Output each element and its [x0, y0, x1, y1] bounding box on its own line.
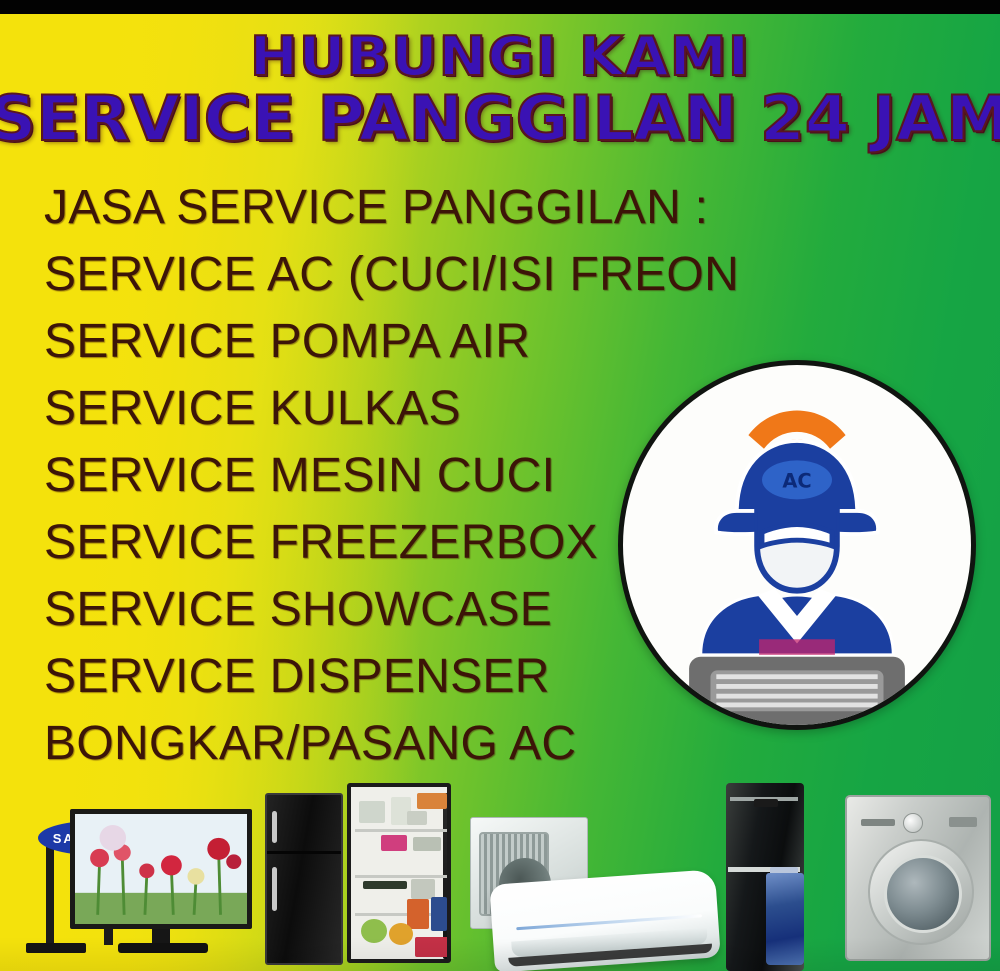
top-black-bar	[0, 0, 1000, 14]
service-line: SERVICE SHOWCASE	[44, 576, 684, 643]
logo-circle-frame: AC	[618, 360, 976, 730]
tv-screen	[70, 809, 252, 929]
fridge-item	[407, 899, 429, 929]
refrigerator-open	[347, 783, 451, 963]
headline-secondary: SERVICE PANGGILAN 24 JAM	[0, 84, 1000, 154]
washer-drum	[884, 855, 962, 933]
technician-ac-icon: AC	[623, 365, 971, 725]
washer-buttons	[861, 819, 895, 826]
fridge-item	[417, 793, 447, 809]
service-line: SERVICE POMPA AIR	[44, 308, 684, 375]
sign-post-left	[46, 841, 54, 945]
fridge-door-split	[267, 851, 341, 854]
washing-machine	[845, 795, 991, 961]
washer-door	[868, 839, 974, 945]
air-conditioner-indoor-unit	[489, 869, 721, 971]
sign-base	[26, 943, 86, 953]
poster-root: HUBUNGI KAMI SERVICE PANGGILAN 24 JAM JA…	[0, 0, 1000, 971]
service-line: SERVICE AC (CUCI/ISI FREON	[44, 241, 684, 308]
cap-badge-label: AC	[782, 470, 811, 493]
fridge-item	[431, 897, 447, 931]
fridge-handle-top	[272, 811, 277, 843]
service-line: SERVICE DISPENSER	[44, 643, 684, 710]
tv-flower-wallpaper-icon	[75, 814, 247, 924]
technician-logo: AC	[618, 360, 978, 732]
technician-head-icon	[757, 511, 837, 591]
water-bottle	[766, 873, 804, 965]
service-line: SERVICE FREEZERBOX	[44, 509, 684, 576]
service-line: SERVICE MESIN CUCI	[44, 442, 684, 509]
washer-display	[949, 817, 977, 827]
ac-unit-icon	[689, 657, 905, 725]
fridge-item	[415, 937, 449, 957]
washer-dial	[903, 813, 923, 833]
ac-accent-stripe	[516, 914, 702, 930]
washer-control-panel	[857, 807, 981, 833]
service-line: JASA SERVICE PANGGILAN :	[44, 174, 684, 241]
services-list: JASA SERVICE PANGGILAN : SERVICE AC (CUC…	[44, 174, 684, 777]
appliance-row: SAMSUNG	[0, 771, 1000, 971]
fridge-item	[381, 835, 407, 851]
fridge-item	[413, 837, 441, 851]
headline-primary: HUBUNGI KAMI	[0, 26, 1000, 88]
service-line: SERVICE KULKAS	[44, 375, 684, 442]
fridge-item	[411, 879, 435, 899]
fridge-item	[361, 919, 387, 943]
dispenser-tap	[754, 799, 778, 807]
refrigerator-closed	[265, 793, 343, 965]
fridge-item	[359, 801, 385, 823]
fridge-item	[363, 881, 407, 889]
fridge-item	[407, 811, 427, 825]
headline-block: HUBUNGI KAMI SERVICE PANGGILAN 24 JAM	[0, 26, 1000, 154]
fridge-shelf	[355, 829, 451, 832]
television: SAMSUNG	[8, 793, 258, 971]
technician-body-icon	[701, 589, 893, 655]
fridge-handle-bottom	[272, 867, 277, 911]
fridge-item	[389, 923, 413, 945]
service-line: BONGKAR/PASANG AC	[44, 710, 684, 777]
water-dispenser	[726, 775, 814, 971]
tv-base	[118, 943, 208, 953]
fridge-shelf	[355, 875, 451, 878]
